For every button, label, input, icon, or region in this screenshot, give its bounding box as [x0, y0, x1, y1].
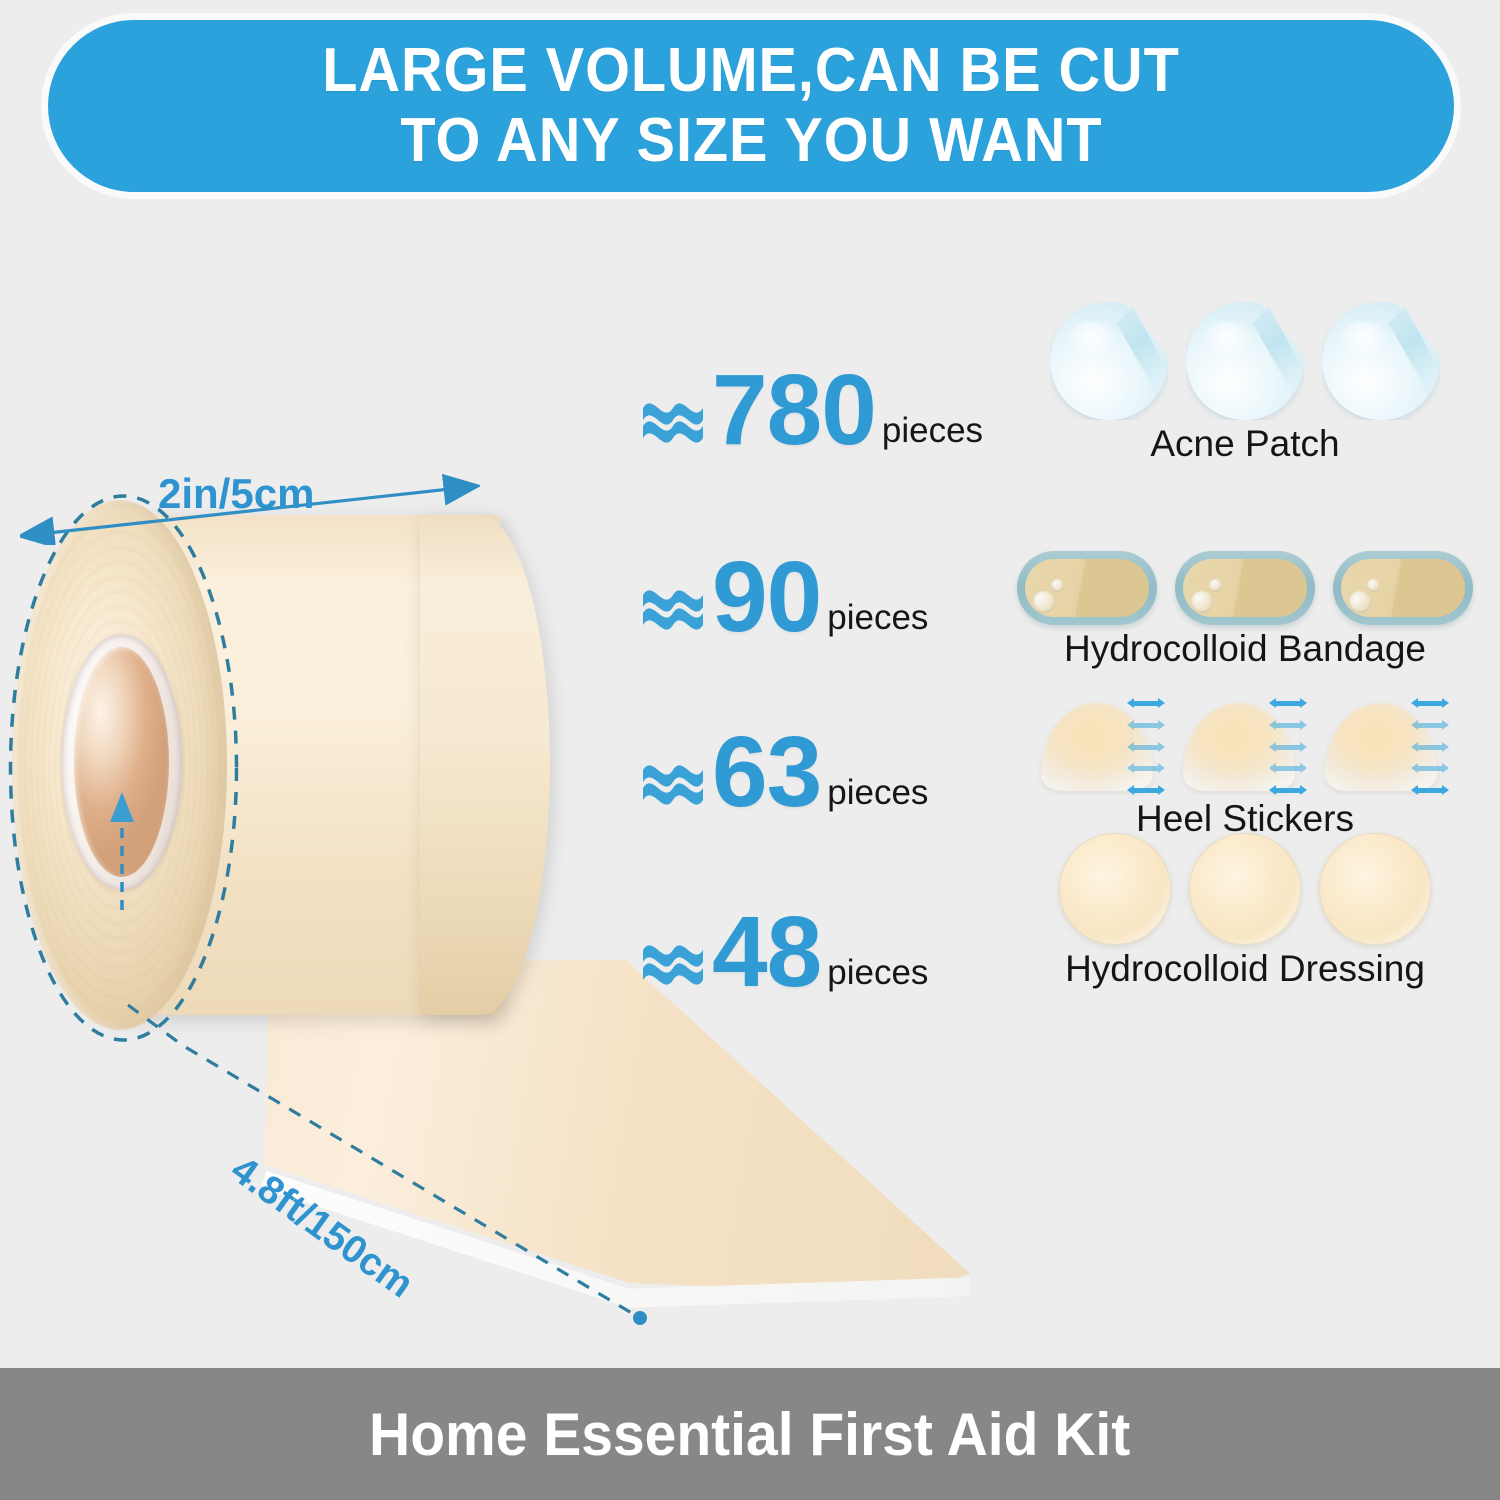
heel-sticker-icon [1041, 699, 1165, 795]
count-unit-label: pieces [882, 411, 983, 451]
approximately-wave-icon [640, 748, 706, 814]
count-row-hydrocolloid-bandage: 90 pieces [640, 547, 928, 647]
header-banner: LARGE VOLUME,CAN BE CUT TO ANY SIZE YOU … [48, 20, 1454, 192]
count-row-acne-patch: 780 pieces [640, 360, 983, 460]
diameter-dashed-outline-icon [6, 488, 241, 1048]
header-title-line-1: LARGE VOLUME,CAN BE CUT [322, 36, 1179, 106]
product-label: Hydrocolloid Bandage [1010, 627, 1480, 671]
count-value: 63 [712, 722, 821, 822]
product-group-acne-patch: Acne Patch [1010, 300, 1480, 466]
product-icon-row [1010, 825, 1480, 945]
count-row-hydrocolloid-dressing: 48 pieces [640, 902, 928, 1002]
approximately-wave-icon [640, 573, 706, 639]
count-unit-label: pieces [827, 773, 928, 813]
hydrocolloid-bandage-icon [1333, 551, 1473, 625]
hydrocolloid-dressing-icon [1189, 833, 1301, 945]
product-types-column: Acne Patch Hydrocolloid Bandage [1010, 300, 1480, 1020]
width-dimension-label: 2in/5cm [158, 470, 314, 518]
hydrocolloid-dressing-icon [1319, 833, 1431, 945]
count-unit-label: pieces [827, 953, 928, 993]
footer-title: Home Essential First Aid Kit [369, 1400, 1130, 1469]
product-icon-row [1010, 675, 1480, 795]
footer-bar: Home Essential First Aid Kit [0, 1368, 1500, 1500]
hydrocolloid-bandage-icon [1017, 551, 1157, 625]
piece-counts-column: 780 pieces 90 pieces 63 pieces 48 pieces [630, 350, 1030, 1030]
count-row-heel-stickers: 63 pieces [640, 722, 928, 822]
count-value: 780 [712, 360, 876, 460]
product-label: Hydrocolloid Dressing [1010, 947, 1480, 991]
heel-sticker-icon [1325, 699, 1449, 795]
product-group-hydrocolloid-bandage: Hydrocolloid Bandage [1010, 505, 1480, 671]
product-icon-row [1010, 505, 1480, 625]
acne-patch-icon [1322, 302, 1440, 420]
product-group-heel-stickers: Heel Stickers [1010, 675, 1480, 841]
hydrocolloid-bandage-icon [1175, 551, 1315, 625]
acne-patch-icon [1050, 302, 1168, 420]
acne-patch-icon [1186, 302, 1304, 420]
hydrocolloid-dressing-icon [1059, 833, 1171, 945]
heel-sticker-icon [1183, 699, 1307, 795]
product-icon-row [1010, 300, 1480, 420]
product-group-hydrocolloid-dressing: Hydrocolloid Dressing [1010, 825, 1480, 991]
tape-roll-body-right-cap [420, 515, 550, 1015]
count-unit-label: pieces [827, 598, 928, 638]
approximately-wave-icon [640, 928, 706, 994]
count-value: 48 [712, 902, 821, 1002]
header-title-line-2: TO ANY SIZE YOU WANT [400, 106, 1102, 176]
count-value: 90 [712, 547, 821, 647]
approximately-wave-icon [640, 386, 706, 452]
product-label: Acne Patch [1010, 422, 1480, 466]
